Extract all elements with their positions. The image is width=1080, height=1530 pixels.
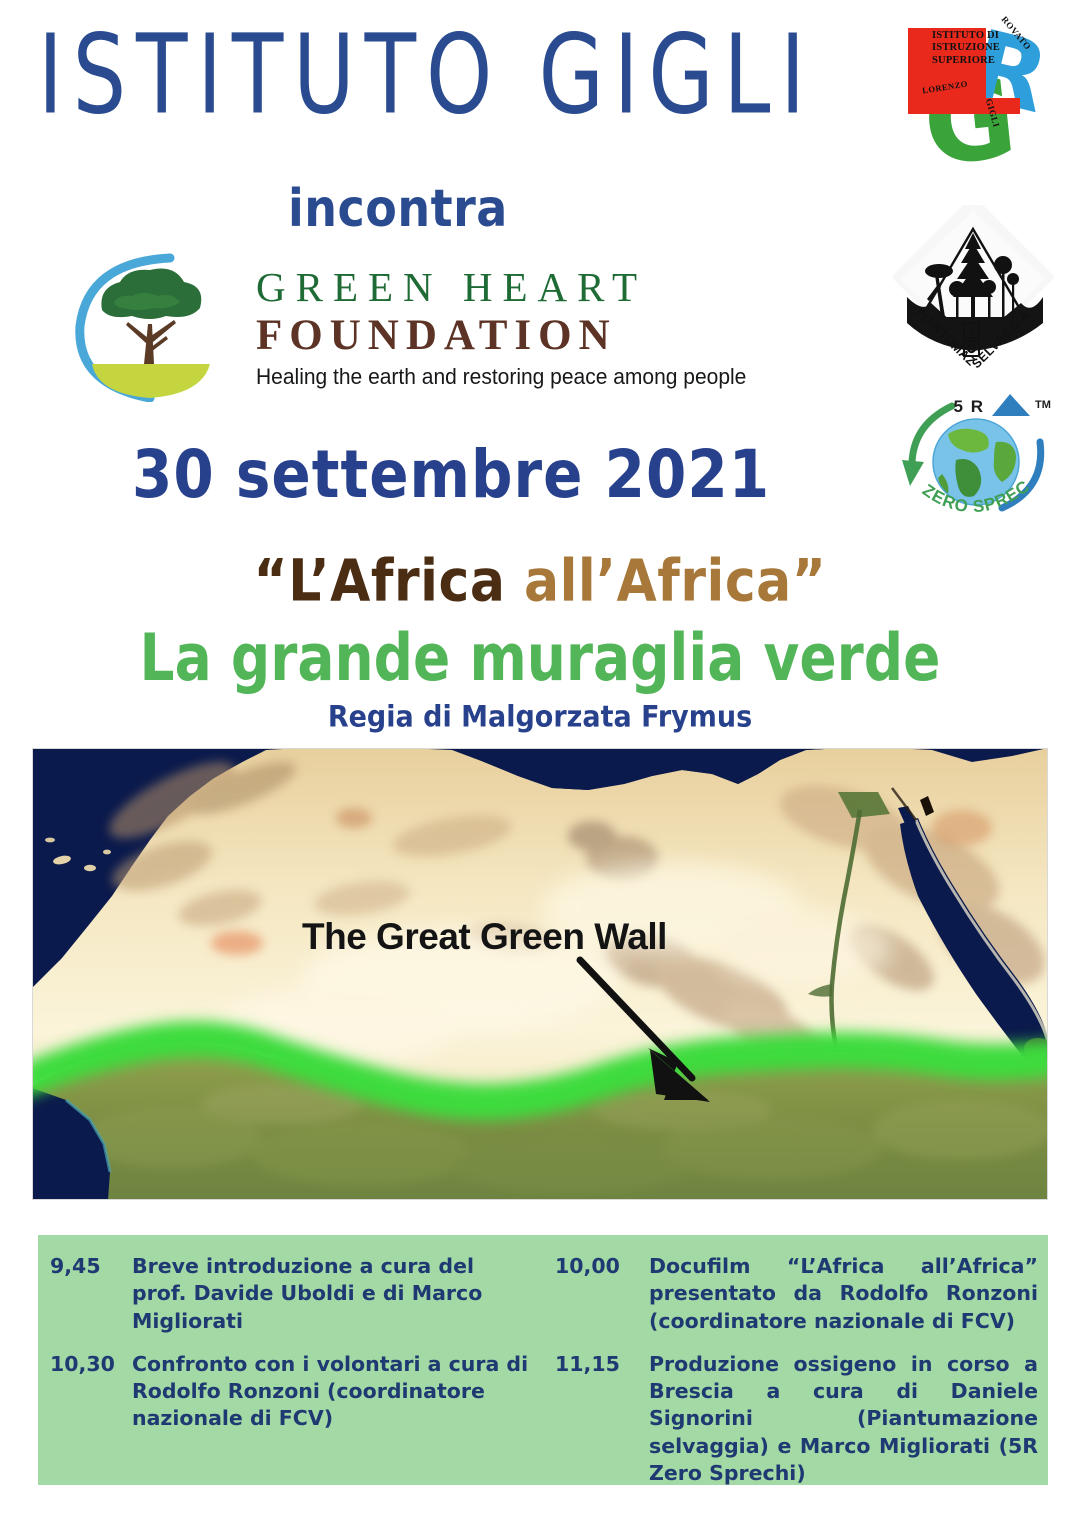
school-logo-line2: ISTRUZIONE: [932, 42, 1000, 54]
film-subtitle: La grande muraglia verde: [0, 620, 1080, 696]
program-description: Produzione ossigeno in corso a Brescia a…: [649, 1351, 1038, 1487]
page-title: ISTITUTO GIGLI: [38, 18, 822, 134]
piantumazione-logo-graphic: f PIANTUMAZIONE SELVAGGIA: [893, 205, 1061, 375]
program-time: 11,15: [555, 1351, 649, 1487]
svg-text:TM: TM: [1035, 399, 1051, 411]
school-logo-text: ISTITUTO DI ISTRUZIONE SUPERIORE: [932, 30, 1000, 67]
program-item: 10,30 Confronto con i volontari a cura d…: [50, 1351, 533, 1433]
acacia-tree-emblem: [58, 252, 248, 402]
program-description: Confronto con i volontari a cura di Rodo…: [132, 1351, 533, 1433]
program-description: Docufilm “L’Africa all’Africa” presentat…: [649, 1253, 1038, 1335]
program-item: 10,00 Docufilm “L’Africa all’Africa” pre…: [555, 1253, 1038, 1335]
program-time: 10,30: [50, 1351, 132, 1433]
school-logo: G R ISTITUTO DI ISTRUZIONE SUPERIORE LOR…: [900, 16, 1050, 181]
great-green-wall-map: The Great Green Wall: [32, 748, 1048, 1200]
program-column-right: 10,00 Docufilm “L’Africa all’Africa” pre…: [543, 1235, 1048, 1485]
film-director: Regia di Malgorzata Frymus: [0, 700, 1080, 734]
program-column-left: 9,45 Breve introduzione a cura del prof.…: [38, 1235, 543, 1485]
foundation-name-line2: FOUNDATION: [256, 311, 746, 360]
film-title-part1: “L’Africa: [254, 548, 506, 615]
poster-root: ISTITUTO GIGLI incontra G R ISTITUTO DI …: [0, 0, 1080, 1530]
program-item: 11,15 Produzione ossigeno in corso a Bre…: [555, 1351, 1038, 1487]
event-date: 30 settembre 2021: [132, 436, 770, 513]
foundation-tagline: Healing the earth and restoring peace am…: [256, 365, 746, 390]
school-logo-line1: ISTITUTO DI: [932, 30, 1000, 42]
svg-text:5 R: 5 R: [954, 397, 985, 416]
program-description: Breve introduzione a cura del prof. Davi…: [132, 1253, 533, 1335]
foundation-name-line1: GREEN HEART: [256, 266, 746, 309]
green-heart-foundation-logo: GREEN HEART FOUNDATION Healing the earth…: [58, 248, 758, 413]
logo-red-foot: [908, 98, 1020, 114]
program-time: 10,00: [555, 1253, 649, 1335]
foundation-text-block: GREEN HEART FOUNDATION Healing the earth…: [256, 266, 746, 389]
zero-sprechi-logo-graphic: 5 R TM ZERO SPRECHI: [896, 390, 1061, 535]
zero-sprechi-logo: 5 R TM ZERO SPRECHI 5 R ZERO SPRECHI: [896, 390, 1061, 535]
film-title-part2: all’Africa”: [524, 548, 826, 615]
incontra-label: incontra: [288, 178, 508, 238]
map-label: The Great Green Wall: [302, 916, 667, 958]
school-logo-line3: SUPERIORE: [932, 55, 1000, 67]
program-item: 9,45 Breve introduzione a cura del prof.…: [50, 1253, 533, 1335]
program-schedule: 9,45 Breve introduzione a cura del prof.…: [38, 1235, 1048, 1485]
piantumazione-selvaggia-logo: f PIANTUMAZIONE SELVAGGIA PIANTUMAZIONE …: [893, 205, 1061, 375]
map-graphic: [32, 748, 1048, 1200]
film-title: “L’Africa all’Africa”: [0, 548, 1080, 615]
program-time: 9,45: [50, 1253, 132, 1335]
